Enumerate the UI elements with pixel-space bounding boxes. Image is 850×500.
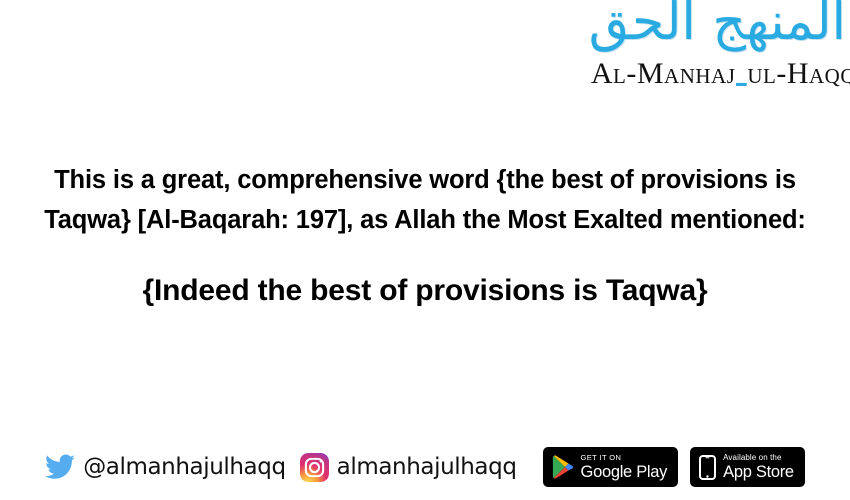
app-store-badge-text: Available on the App Store bbox=[723, 454, 794, 481]
google-play-badge[interactable]: GET IT ON Google Play bbox=[543, 447, 679, 487]
brand-logo: المنهج الحق Al-Manhajـul-Haqq bbox=[510, 0, 850, 110]
main-content: This is a great, comprehensive word {the… bbox=[0, 160, 850, 309]
google-play-large-text: Google Play bbox=[581, 464, 668, 481]
google-play-badge-text: GET IT ON Google Play bbox=[581, 454, 668, 480]
instagram-handle: almanhajulhaqq bbox=[337, 454, 517, 480]
twitter-bird-icon bbox=[45, 454, 75, 480]
app-store-badges: GET IT ON Google Play Available on the A… bbox=[543, 447, 805, 487]
google-play-triangle-icon bbox=[552, 455, 574, 479]
app-store-large-text: App Store bbox=[723, 464, 794, 481]
app-store-small-text: Available on the bbox=[723, 454, 794, 462]
twitter-handle: @almanhajulhaqq bbox=[83, 454, 285, 480]
brand-arabic-script: المنهج الحق bbox=[589, 0, 846, 48]
brand-wordmark-left: Al-Manhaj bbox=[591, 57, 736, 90]
instagram-camera-icon bbox=[300, 453, 329, 482]
google-play-small-text: GET IT ON bbox=[581, 454, 668, 462]
quoted-verse: {Indeed the best of provisions is Taqwa} bbox=[15, 273, 835, 309]
intro-paragraph-line-2: Taqwa} [Al-Baqarah: 197], as Allah the M… bbox=[25, 200, 825, 240]
brand-wordmark-right: ul-Haqq bbox=[747, 57, 850, 90]
app-store-badge[interactable]: Available on the App Store bbox=[690, 447, 805, 487]
intro-paragraph: This is a great, comprehensive word {the… bbox=[25, 160, 825, 241]
intro-paragraph-line-1: This is a great, comprehensive word {the… bbox=[25, 160, 825, 200]
footer-bar: @almanhajulhaqq almanhaj bbox=[0, 442, 850, 492]
instagram-link[interactable]: almanhajulhaqq bbox=[300, 453, 517, 482]
twitter-link[interactable]: @almanhajulhaqq bbox=[45, 454, 285, 480]
brand-swash-glyph: ـ bbox=[735, 55, 747, 95]
apple-iphone-icon bbox=[699, 455, 716, 480]
brand-wordmark: Al-Manhajـul-Haqq bbox=[591, 58, 850, 92]
